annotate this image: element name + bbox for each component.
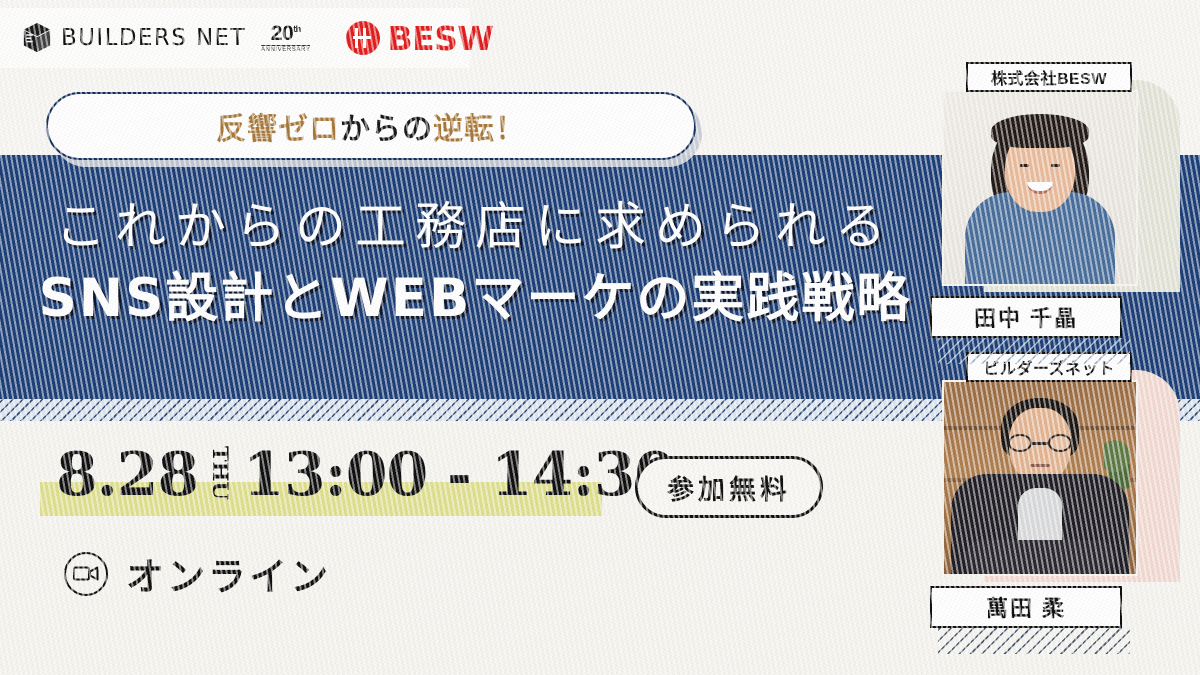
speaker-1-company-tag: 株式会社BESW	[966, 62, 1132, 92]
free-participation-badge: 参加無料	[635, 456, 823, 518]
speaker-1-name-plate: 田中 千晶	[930, 296, 1122, 338]
subtitle-gold-part2: 逆転！	[433, 113, 526, 146]
title-line-2: SNS設計とWEBマーケの実践戦略	[0, 266, 950, 332]
subtitle-dark-part: からの	[340, 113, 433, 146]
speaker-column: 株式会社BESW 田中 千晶	[930, 0, 1200, 675]
logo-strip: BUILDERS NET 20th ANNIVERSARY BESW	[0, 8, 470, 68]
speaker-2-plate-hatch	[938, 628, 1130, 654]
builders-net-logo: BUILDERS NET 20th ANNIVERSARY	[0, 22, 310, 54]
speaker-1-name: 田中 千晶	[974, 301, 1078, 333]
event-day-of-week: THU	[210, 446, 231, 500]
besw-circle-mark	[346, 21, 380, 55]
speaker-1-photo	[942, 90, 1138, 286]
webinar-banner: BUILDERS NET 20th ANNIVERSARY BESW 反響ゼロか…	[0, 0, 1200, 675]
speaker-2-name: 萬田 柔	[986, 591, 1066, 623]
speaker-1-company: 株式会社BESW	[991, 65, 1107, 89]
main-title: これからの工務店に求められる SNS設計とWEBマーケの実践戦略	[0, 196, 950, 332]
anniversary-label: ANNIVERSARY	[261, 45, 311, 53]
free-badge-label: 参加無料	[667, 468, 791, 507]
speaker-1-plate-hatch	[938, 338, 1130, 364]
venue-label: オンライン	[126, 546, 331, 601]
subtitle-text: 反響ゼロからの逆転！	[216, 104, 526, 148]
anniversary-number: 20th	[271, 23, 301, 44]
subtitle-pill: 反響ゼロからの逆転！	[46, 92, 696, 160]
event-time: 13:00 - 14:30	[243, 447, 675, 504]
video-camera-icon	[64, 552, 108, 596]
title-line-1: これからの工務店に求められる	[0, 196, 950, 260]
besw-wordmark: BESW	[387, 19, 493, 58]
anniversary-mark: 20th ANNIVERSARY	[261, 23, 311, 53]
speaker-2-photo	[942, 380, 1138, 576]
schedule-row: 8.28 THU 13:00 - 14:30	[56, 446, 675, 504]
box-3d-icon	[22, 22, 52, 54]
event-date: 8.28	[56, 447, 198, 504]
speaker-2-name-plate: 萬田 柔	[930, 586, 1122, 628]
subtitle-gold-part: 反響ゼロ	[216, 113, 340, 146]
besw-logo: BESW	[346, 19, 493, 58]
builders-net-wordmark: BUILDERS NET	[61, 25, 246, 51]
venue-row: オンライン	[64, 546, 331, 601]
